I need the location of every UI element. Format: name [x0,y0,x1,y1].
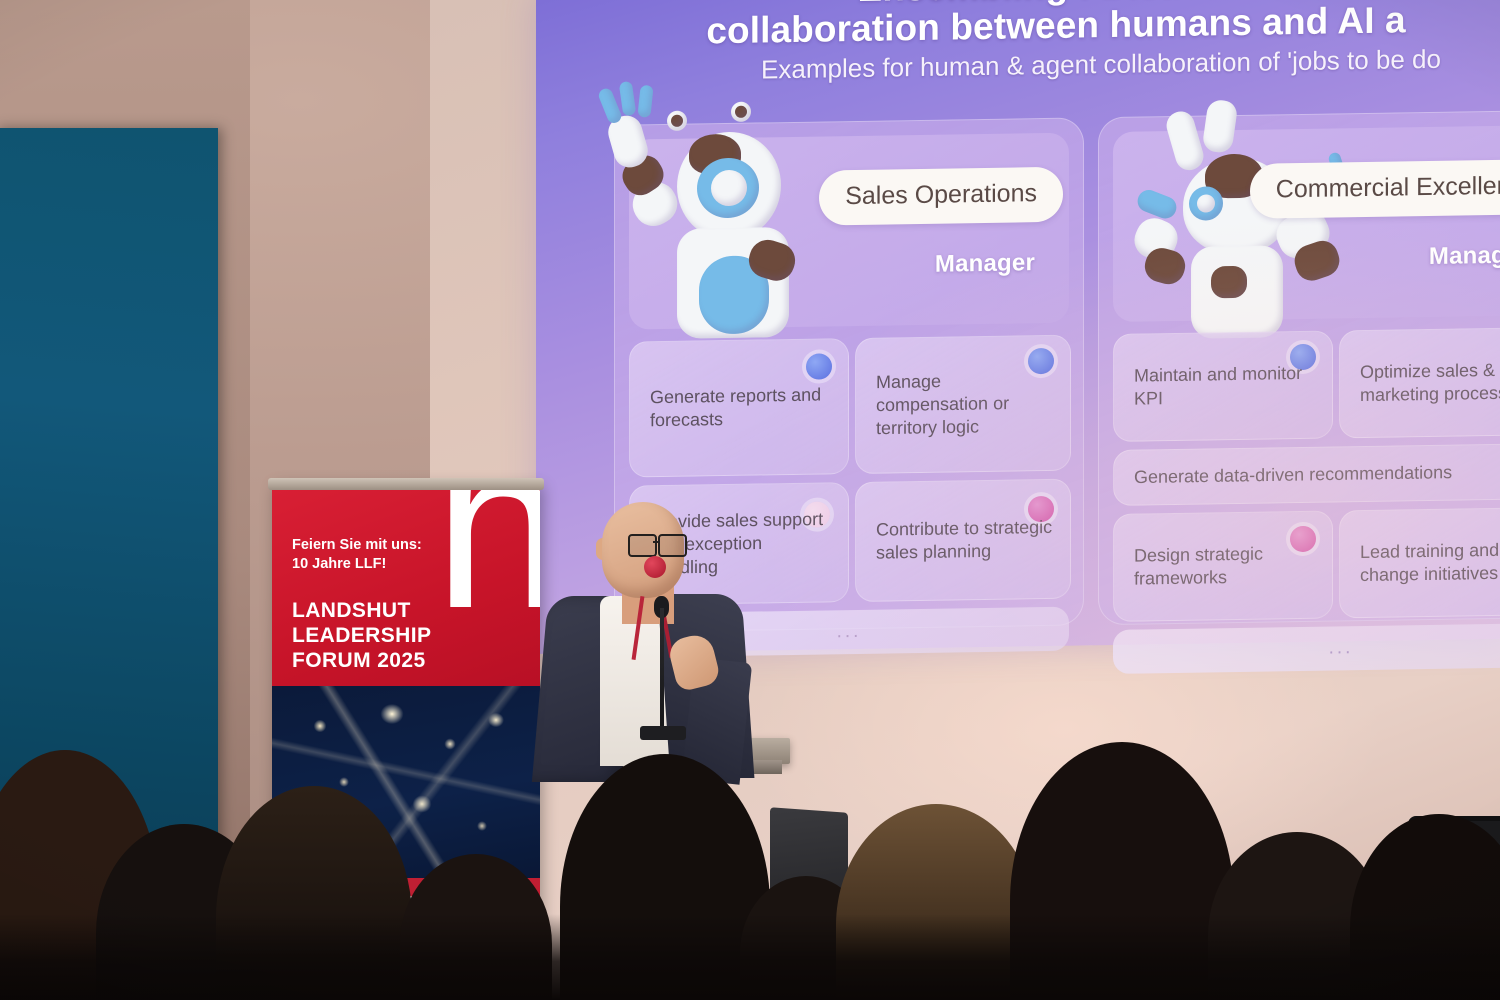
role-name-pill-right: Commercial Excellence [1250,159,1500,219]
task-tile-label: Design strategic frameworks [1134,542,1316,591]
task-tile: Maintain and monitor KPI [1113,330,1333,441]
task-tile-label: Manage compensation or territory logic [876,368,1054,440]
banner-tagline-line-2: 10 Jahre LLF! [292,555,452,574]
speaker-badge [644,556,666,578]
speaker-glasses-icon [628,534,686,553]
role-level-left: Manager [935,249,1035,279]
more-bar: ... [1113,623,1500,674]
task-tile: Contribute to strategic sales planning [855,479,1071,602]
task-tile: Design strategic frameworks [1113,510,1333,621]
banner-tagline: Feiern Sie mit uns: 10 Jahre LLF! [292,536,452,574]
banner-tagline-line-1: Feiern Sie mit uns: [292,536,452,555]
task-tile-label: Contribute to strategic sales planning [876,516,1054,565]
microphone-base [640,726,686,740]
more-ellipsis: ... [837,621,862,643]
more-ellipsis: ... [1329,637,1354,659]
humanoid-robot-right-icon [1119,103,1419,338]
task-tile: Generate reports and forecasts [629,338,849,477]
slide-cards: Sales Operations Manager Generate report… [614,109,1500,635]
task-tile: Generate data-driven recommendations [1113,443,1500,506]
task-tile-label: Lead training and change initiatives [1360,538,1500,587]
banner-title-line-2: LEADERSHIP [292,623,472,648]
task-tile: Manage compensation or territory logic [855,335,1071,474]
task-tile: Optimize sales & marketing process [1339,327,1500,439]
banner-rail [268,478,544,490]
microphone-stand [660,608,664,736]
stage-photo: Ensembling : Distribut collaboration bet… [0,0,1500,1000]
banner-title-line-3: FORUM 2025 [292,648,472,673]
role-card-commercial-excellence: Commercial Excellence Manager Maintain a… [1098,110,1500,625]
role-hero-left: Sales Operations Manager [629,133,1069,330]
banner-header: h Feiern Sie mit uns: 10 Jahre LLF! LAND… [272,490,540,686]
task-tile-label: Generate data-driven recommendations [1134,460,1500,490]
role-name-left: Sales Operations [845,179,1037,210]
role-name-right: Commercial Excellence [1276,171,1500,203]
task-tile-label: Generate reports and forecasts [650,383,832,432]
task-tile-label: Optimize sales & marketing process [1360,358,1500,407]
banner-title: LANDSHUT LEADERSHIP FORUM 2025 [292,598,472,673]
task-tile: Lead training and change initiatives [1339,507,1500,619]
banner-title-line-1: LANDSHUT [292,598,472,623]
role-hero-right: Commercial Excellence Manager [1113,125,1500,322]
role-level-right: Manager [1429,241,1500,271]
task-tile-label: Maintain and monitor KPI [1134,362,1316,411]
role-name-pill-left: Sales Operations [819,167,1063,226]
status-dot-blue [806,353,832,379]
audience-foreground-shadow [0,914,1500,1000]
